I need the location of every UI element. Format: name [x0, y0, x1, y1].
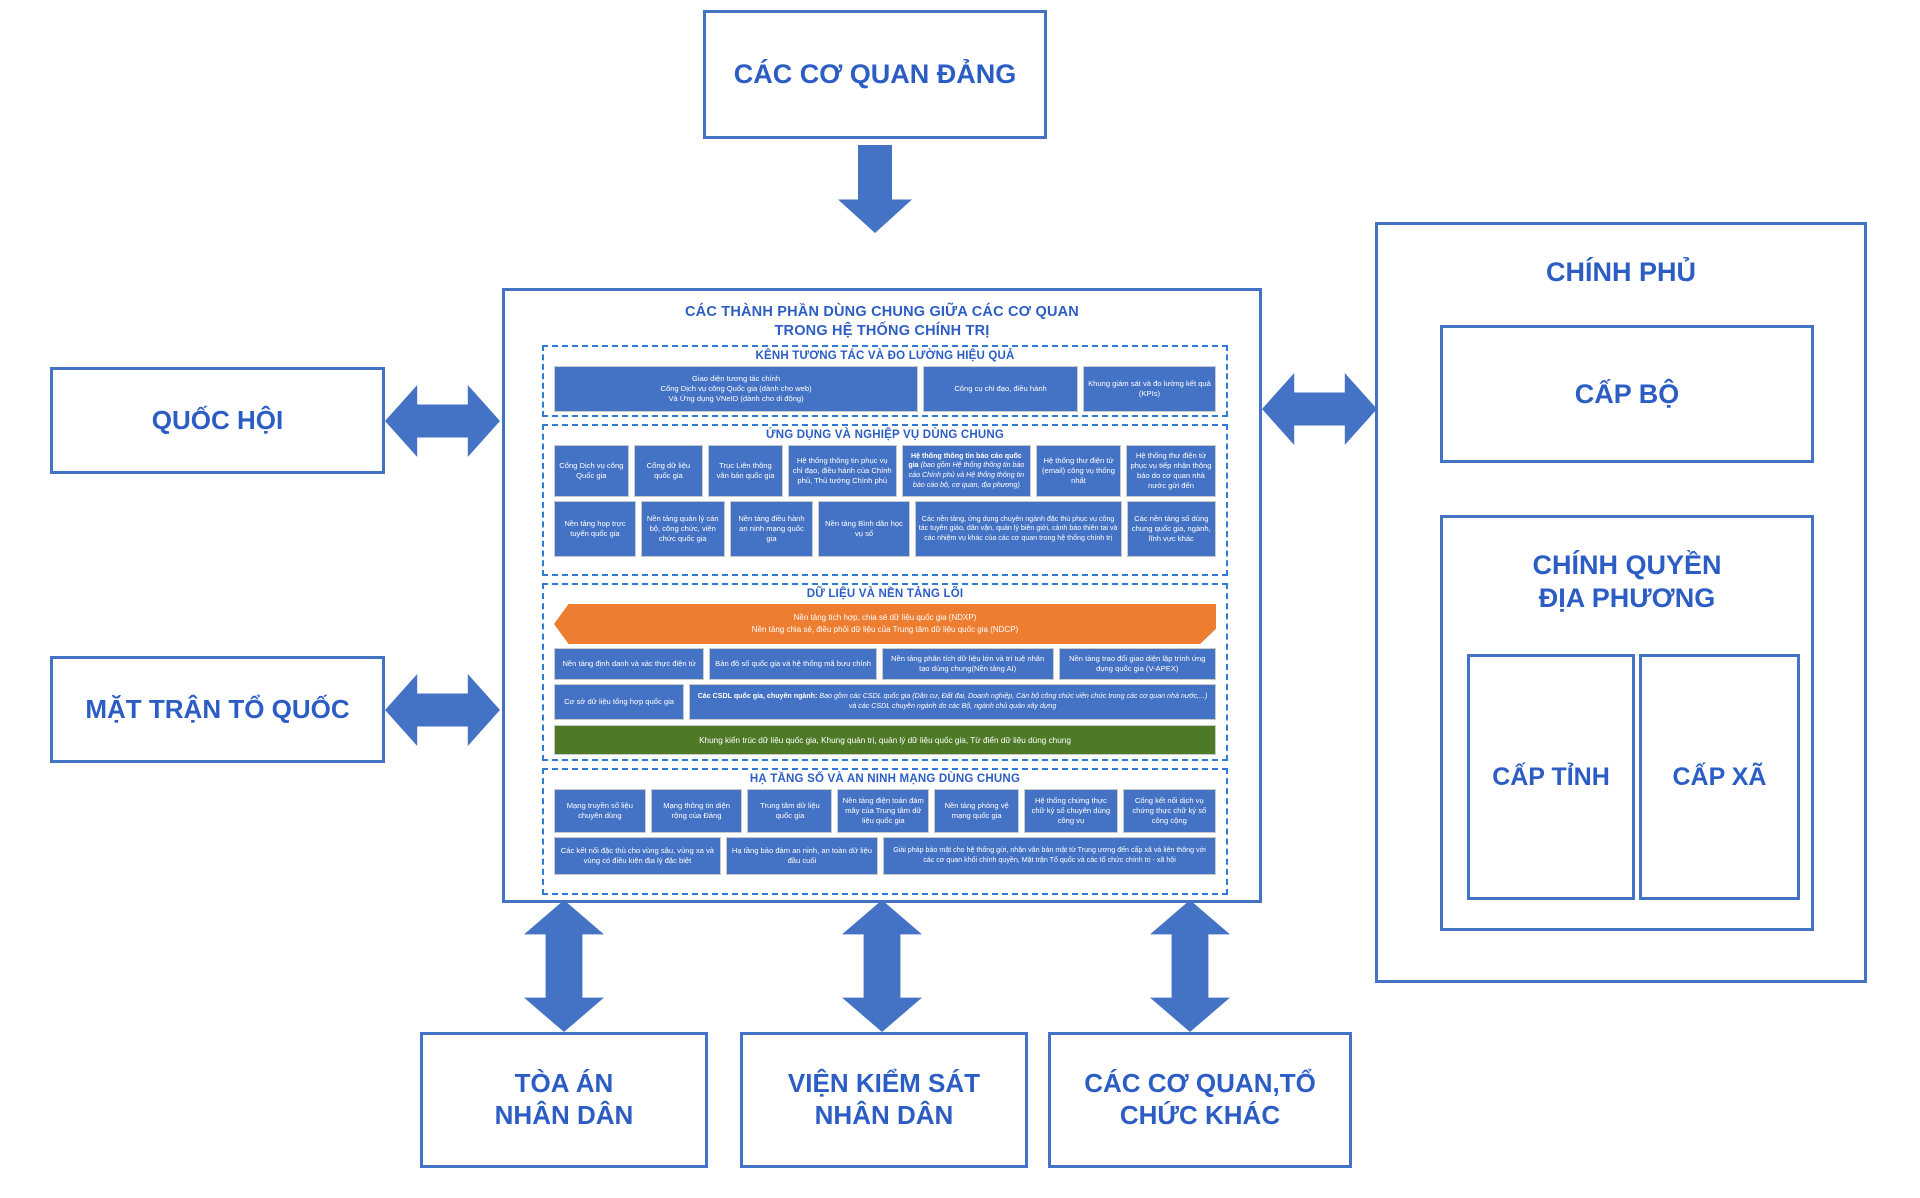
section-title: DỮ LIỆU VÀ NỀN TẢNG LÕI	[550, 588, 1220, 600]
component-cell[interactable]: Nền tảng quản lý cán bộ, công chức, viên…	[641, 501, 725, 557]
box-other-organizations[interactable]: CÁC CƠ QUAN,TỔ CHỨC KHÁC	[1048, 1032, 1352, 1168]
component-row: Cổng Dịch vụ công Quốc giaCổng dữ liệu q…	[554, 445, 1216, 497]
component-cell-label: Cơ sở dữ liệu tổng hợp quốc gia	[564, 697, 674, 707]
component-cell-label: Các nền tảng số dùng chung quốc gia, ngà…	[1131, 514, 1212, 545]
box-national-assembly-label: QUỐC HỘI	[152, 405, 283, 437]
arrow-left-upper-icon	[385, 385, 500, 457]
component-cell[interactable]: Mạng thông tin diện rộng của Đảng	[651, 789, 743, 833]
component-cell-label: Trục Liên thông văn bản quốc gia	[712, 461, 779, 482]
component-cell[interactable]: Hệ thống thư điện tử (email) công vụ thố…	[1036, 445, 1121, 497]
component-cell-label: Cổng Dịch vụ công Quốc gia	[558, 461, 625, 482]
box-local-government-label: CHÍNH QUYỀN ĐỊA PHƯƠNG	[1443, 549, 1811, 615]
component-cell[interactable]: Hệ thống thông tin phục vụ chỉ đạo, điều…	[788, 445, 897, 497]
component-cell[interactable]: Mạng truyền số liệu chuyên dùng	[554, 789, 646, 833]
component-cell[interactable]: Hạ tầng bảo đảm an ninh, an toàn dữ liệu…	[726, 837, 878, 875]
component-cell[interactable]: Công cụ chỉ đạo, điều hành	[923, 366, 1078, 412]
component-cell[interactable]: Cổng kết nối dịch vụ chứng thực chữ ký s…	[1123, 789, 1216, 833]
integration-platform-label: Nền tảng tích hợp, chia sẻ dữ liệu quốc …	[752, 612, 1018, 636]
arrow-right-icon	[1262, 373, 1377, 445]
component-row: Nền tảng định danh và xác thực điện tửBả…	[554, 648, 1216, 680]
data-architecture-framework[interactable]: Khung kiến trúc dữ liệu quốc gia, Khung …	[554, 725, 1216, 755]
box-peoples-procuracy-label: VIỆN KIỂM SÁT NHÂN DÂN	[788, 1068, 980, 1131]
box-fatherland-front-label: MẶT TRẬN TỔ QUỐC	[85, 694, 349, 726]
component-row: Nền tảng họp trực tuyến quốc giaNền tảng…	[554, 501, 1216, 557]
box-national-assembly[interactable]: QUỐC HỘI	[50, 367, 385, 474]
box-cap-xa[interactable]: CẤP XÃ	[1639, 654, 1800, 900]
component-cell[interactable]: Khung giám sát và đo lường kết quả (KPIs…	[1083, 366, 1216, 412]
component-cell[interactable]: Các nền tảng, ứng dụng chuyên ngành đặc …	[915, 501, 1122, 557]
component-cell-label: Hệ thống thông tin phục vụ chỉ đạo, điều…	[792, 456, 893, 487]
box-government-label: CHÍNH PHỦ	[1378, 256, 1864, 289]
component-cell[interactable]: Nền tảng định danh và xác thực điện tử	[554, 648, 704, 680]
box-peoples-court[interactable]: TÒA ÁN NHÂN DÂN	[420, 1032, 708, 1168]
component-cell-label: Nền tảng phòng vệ mạng quốc gia	[938, 801, 1015, 822]
component-cell-label: Giải pháp bảo mật cho hệ thống gửi, nhận…	[887, 846, 1212, 865]
component-cell-label: Khung giám sát và đo lường kết quả (KPIs…	[1087, 379, 1212, 400]
component-cell-label: Các nền tảng, ứng dụng chuyên ngành đặc …	[919, 515, 1118, 544]
box-cap-bo[interactable]: CẤP BỘ	[1440, 325, 1814, 463]
component-cell[interactable]: Các kết nối đặc thù cho vùng sâu, vùng x…	[554, 837, 721, 875]
section-3: HẠ TẦNG SỐ VÀ AN NINH MẠNG DÙNG CHUNGMạn…	[542, 768, 1228, 895]
component-cell-label: Các kết nối đặc thù cho vùng sâu, vùng x…	[558, 846, 717, 867]
component-cell[interactable]: Hệ thống thư điện tử phục vụ tiếp nhận t…	[1126, 445, 1216, 497]
component-cell-label: Nền tảng quản lý cán bộ, công chức, viên…	[645, 514, 721, 545]
section-title: HẠ TẦNG SỐ VÀ AN NINH MẠNG DÙNG CHUNG	[550, 773, 1220, 785]
component-cell-label: Hệ thống chứng thực chữ ký số chuyên dùn…	[1028, 796, 1113, 827]
component-cell-label: Nền tảng họp trực tuyến quốc gia	[558, 519, 632, 540]
component-row: Cơ sở dữ liệu tổng hợp quốc giaCác CSDL …	[554, 684, 1216, 720]
data-architecture-framework-label: Khung kiến trúc dữ liệu quốc gia, Khung …	[699, 736, 1071, 745]
panel-title-line1: CÁC THÀNH PHẦN DÙNG CHUNG GIỮA CÁC CƠ QU…	[505, 303, 1259, 322]
component-row: Mạng truyền số liệu chuyên dùngMạng thôn…	[554, 789, 1216, 833]
panel-title-line2: TRONG HỆ THỐNG CHÍNH TRỊ	[505, 322, 1259, 341]
component-cell-label: Nền tảng điện toán đám mây của Trung tâm…	[841, 796, 925, 827]
section-title: ỨNG DỤNG VÀ NGHIỆP VỤ DÙNG CHUNG	[550, 429, 1220, 441]
component-cell[interactable]: Cổng Dịch vụ công Quốc gia	[554, 445, 629, 497]
box-peoples-procuracy[interactable]: VIỆN KIỂM SÁT NHÂN DÂN	[740, 1032, 1028, 1168]
component-cell-label: Mạng truyền số liệu chuyên dùng	[558, 801, 642, 822]
component-cell-label: Cổng dữ liệu quốc gia	[638, 461, 700, 482]
component-cell[interactable]: Nền tảng phòng vệ mạng quốc gia	[934, 789, 1019, 833]
component-cell-label: Nền tảng phân tích dữ liệu lớn và trí tu…	[886, 654, 1050, 675]
component-cell-label: Nền tảng định danh và xác thực điện tử	[562, 659, 695, 669]
component-cell-label: Nền tảng Bình dân học vụ số	[822, 519, 905, 540]
section-title: KÊNH TƯƠNG TÁC VÀ ĐO LƯỜNG HIỆU QUẢ	[550, 350, 1220, 362]
component-cell-label: Mạng thông tin diện rộng của Đảng	[655, 801, 739, 822]
integration-platform-banner[interactable]: Nền tảng tích hợp, chia sẻ dữ liệu quốc …	[554, 604, 1216, 644]
component-cell[interactable]: Trung tâm dữ liệu quốc gia	[747, 789, 832, 833]
arrow-bottom-1-icon	[524, 900, 604, 1032]
section-0: KÊNH TƯƠNG TÁC VÀ ĐO LƯỜNG HIỆU QUẢGiao …	[542, 345, 1228, 417]
component-cell[interactable]: Hệ thống chứng thực chữ ký số chuyên dùn…	[1024, 789, 1117, 833]
arrow-left-lower-icon	[385, 674, 500, 746]
component-cell[interactable]: Cổng dữ liệu quốc gia	[634, 445, 704, 497]
shared-components-panel: CÁC THÀNH PHẦN DÙNG CHUNG GIỮA CÁC CƠ QU…	[502, 288, 1262, 903]
component-cell[interactable]: Các CSDL quốc gia, chuyên ngành: Bao gồm…	[689, 684, 1216, 720]
box-peoples-court-label: TÒA ÁN NHÂN DÂN	[495, 1068, 634, 1131]
component-cell-label: Các CSDL quốc gia, chuyên ngành: Bao gồm…	[693, 692, 1212, 711]
arrow-bottom-3-icon	[1150, 900, 1230, 1032]
arrow-bottom-2-icon	[842, 900, 922, 1032]
component-cell-label: Công cụ chỉ đạo, điều hành	[954, 384, 1046, 394]
box-local-government[interactable]: CHÍNH QUYỀN ĐỊA PHƯƠNG CẤP TỈNH CẤP XÃ	[1440, 515, 1814, 931]
component-cell-label: Nền tảng trao đổi giao diện lập trình ứn…	[1063, 654, 1212, 675]
component-cell-label: Hệ thống thông tin báo cáo quốc gia (bao…	[906, 452, 1027, 490]
component-cell-label: Hạ tầng bảo đảm an ninh, an toàn dữ liệu…	[730, 846, 874, 867]
component-cell[interactable]: Nền tảng họp trực tuyến quốc gia	[554, 501, 636, 557]
component-row: Giao diện tương tác chínhCổng Dịch vụ cô…	[554, 366, 1216, 412]
component-cell[interactable]: Nền tảng trao đổi giao diện lập trình ứn…	[1059, 648, 1216, 680]
component-cell[interactable]: Giải pháp bảo mật cho hệ thống gửi, nhận…	[883, 837, 1216, 875]
component-cell[interactable]: Giao diện tương tác chínhCổng Dịch vụ cô…	[554, 366, 918, 412]
component-cell[interactable]: Các nền tảng số dùng chung quốc gia, ngà…	[1127, 501, 1216, 557]
box-party-agencies-label: CÁC CƠ QUAN ĐẢNG	[734, 58, 1017, 91]
component-cell[interactable]: Cơ sở dữ liệu tổng hợp quốc gia	[554, 684, 684, 720]
box-party-agencies[interactable]: CÁC CƠ QUAN ĐẢNG	[703, 10, 1047, 139]
component-cell[interactable]: Nền tảng điều hành an ninh mạng quốc gia	[730, 501, 814, 557]
component-cell[interactable]: Hệ thống thông tin báo cáo quốc gia (bao…	[902, 445, 1031, 497]
component-cell[interactable]: Nền tảng phân tích dữ liệu lớn và trí tu…	[882, 648, 1054, 680]
component-cell-label: Hệ thống thư điện tử phục vụ tiếp nhận t…	[1130, 451, 1212, 492]
component-cell[interactable]: Trục Liên thông văn bản quốc gia	[708, 445, 783, 497]
box-cap-bo-label: CẤP BỘ	[1575, 378, 1680, 411]
component-cell[interactable]: Bản đồ số quốc gia và hệ thống mã bưu ch…	[709, 648, 876, 680]
component-cell-label: Bản đồ số quốc gia và hệ thống mã bưu ch…	[715, 659, 871, 669]
component-cell-label: Hệ thống thư điện tử (email) công vụ thố…	[1040, 456, 1117, 487]
section-2: DỮ LIỆU VÀ NỀN TẢNG LÕINền tảng tích hợp…	[542, 583, 1228, 761]
box-other-organizations-label: CÁC CƠ QUAN,TỔ CHỨC KHÁC	[1084, 1068, 1316, 1131]
component-cell-label: Nền tảng điều hành an ninh mạng quốc gia	[734, 514, 810, 545]
box-cap-tinh[interactable]: CẤP TỈNH	[1467, 654, 1635, 900]
arrow-top-down-icon	[838, 145, 912, 233]
component-cell[interactable]: Nền tảng Bình dân học vụ số	[818, 501, 909, 557]
component-cell[interactable]: Nền tảng điện toán đám mây của Trung tâm…	[837, 789, 929, 833]
box-government[interactable]: CHÍNH PHỦ CẤP BỘ CHÍNH QUYỀN ĐỊA PHƯƠNG …	[1375, 222, 1867, 983]
section-1: ỨNG DỤNG VÀ NGHIỆP VỤ DÙNG CHUNGCổng Dịc…	[542, 424, 1228, 576]
component-row: Các kết nối đặc thù cho vùng sâu, vùng x…	[554, 837, 1216, 875]
box-cap-tinh-label: CẤP TỈNH	[1492, 762, 1610, 793]
component-cell-label: Cổng kết nối dịch vụ chứng thực chữ ký s…	[1127, 796, 1212, 827]
box-cap-xa-label: CẤP XÃ	[1672, 762, 1766, 793]
component-cell-label: Giao diện tương tác chínhCổng Dịch vụ cô…	[661, 374, 812, 405]
box-fatherland-front[interactable]: MẶT TRẬN TỔ QUỐC	[50, 656, 385, 763]
component-cell-label: Trung tâm dữ liệu quốc gia	[751, 801, 828, 822]
